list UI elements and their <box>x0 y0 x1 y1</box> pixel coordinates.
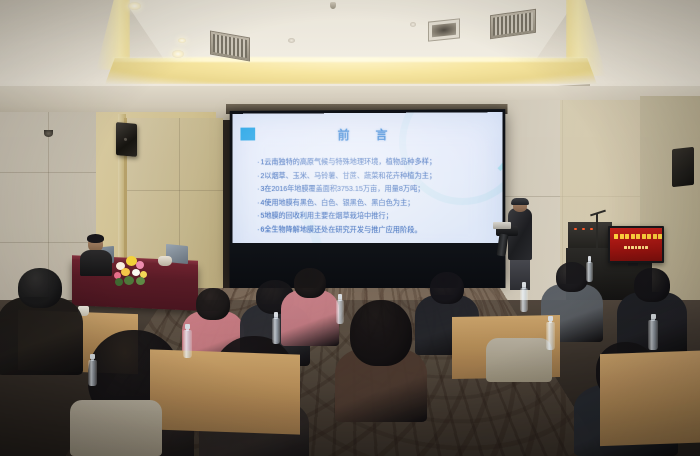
bullet-text: 4使用地膜有黑色、白色、银黑色、黑白色为主； <box>260 198 414 207</box>
monitor-subtext-block <box>642 246 645 249</box>
bottle-cap <box>548 316 553 321</box>
slide-bullet-list: ·1云南独特的高原气候与特殊地理环境，植物品种多样； ·2以烟草、玉米、马铃薯、… <box>257 155 492 237</box>
monitor-subtitle-blocks <box>624 246 648 249</box>
slide-bullet-6: ·6全生物降解地膜还处在研究开发与推广应用阶段。 <box>257 223 492 237</box>
flower-3 <box>136 261 144 269</box>
chair-back-right <box>486 338 552 382</box>
slide-title: 前 言 <box>233 125 503 143</box>
wall-speaker-right <box>672 147 694 187</box>
monitor-text-block <box>658 234 662 239</box>
water-bottle-4 <box>520 288 528 312</box>
sprinkler-head <box>330 2 336 9</box>
bullet-text: 5地膜的回收利用主要在烟草栽培中推行； <box>260 211 392 220</box>
bottle-cap <box>90 354 95 359</box>
flower-4 <box>121 268 130 276</box>
bullet-text: 2以烟草、玉米、马铃薯、甘蔗、蔬菜和花卉种植为主； <box>260 170 436 179</box>
downlight-2 <box>172 50 184 58</box>
water-bottle-3 <box>336 300 344 324</box>
microphone-stand <box>596 214 598 248</box>
slide-bullet-4: ·4使用地膜有黑色、白色、银黑色、黑白色为主； <box>257 196 492 210</box>
monitor-subtext-block <box>628 246 631 249</box>
rack-led <box>590 228 593 230</box>
monitor-subtext-block <box>631 246 634 249</box>
bottle-cap <box>185 324 190 329</box>
head <box>294 268 326 298</box>
camera-lens-hood <box>493 222 511 229</box>
bullet-text: 6全生物降解地膜还处在研究开发与推广应用阶段。 <box>260 225 421 234</box>
door-seam <box>127 190 223 191</box>
av-monitor <box>608 226 664 263</box>
bottle-cap <box>522 282 526 287</box>
presenter-hair <box>87 234 104 243</box>
head <box>18 268 62 308</box>
monitor-screen <box>610 228 662 261</box>
water-bottle-2 <box>272 318 280 344</box>
flower-10 <box>115 278 123 286</box>
conference-room-photo: 前 言 ·1云南独特的高原气候与特殊地理环境，植物品种多样； ·2以烟草、玉米、… <box>0 0 700 456</box>
chair-back-center <box>70 400 162 456</box>
monitor-subtext-block <box>638 246 641 249</box>
monitor-subtext-block <box>624 246 627 249</box>
bullet-text: 3在2016年地膜覆盖面积3753.15万亩，用量8万吨； <box>260 184 424 193</box>
photographer-cap <box>511 198 529 205</box>
wall-speaker-left <box>116 122 137 157</box>
downlight-1 <box>128 2 141 10</box>
slide-bullet-1: ·1云南独特的高原气候与特殊地理环境，植物品种多样； <box>257 155 492 169</box>
downlight-3 <box>178 38 186 43</box>
security-camera-icon <box>44 130 53 137</box>
floral-centerpiece <box>112 252 152 286</box>
cove-light-strip <box>112 57 590 62</box>
monitor-text-block <box>653 234 657 239</box>
bottle-cap <box>588 256 592 261</box>
head <box>634 268 670 302</box>
monitor-subtext-block <box>635 246 638 249</box>
vent-grill <box>493 12 533 36</box>
head <box>196 288 230 320</box>
torso <box>0 297 83 375</box>
flower-5 <box>132 269 140 276</box>
monitor-text-block <box>636 234 640 239</box>
head <box>556 262 588 292</box>
water-bottle-6 <box>586 262 593 282</box>
monitor-text-block <box>642 234 646 239</box>
flower-8 <box>124 276 134 285</box>
flower-9 <box>136 277 145 285</box>
monitor-text-block <box>647 234 651 239</box>
bullet-text: 1云南独特的高原气候与特殊地理环境，植物品种多样； <box>260 157 436 166</box>
water-bottle-5 <box>546 322 555 350</box>
monitor-text-block <box>620 234 624 239</box>
head <box>350 300 412 366</box>
presenter-torso <box>80 250 112 276</box>
air-diffuser-center <box>428 18 460 41</box>
monitor-title-blocks <box>614 234 662 239</box>
water-bottle-7 <box>648 320 658 350</box>
water-bottle-1 <box>183 330 192 358</box>
bottle-cap <box>274 312 278 317</box>
water-bottle-8 <box>88 360 97 386</box>
monitor-subtext-block <box>645 246 648 249</box>
rack-led <box>582 228 585 230</box>
slide-bullet-3: ·3在2016年地膜覆盖面积3753.15万亩，用量8万吨； <box>257 182 492 196</box>
head <box>430 272 464 304</box>
teapot <box>158 256 172 266</box>
audience-table-right <box>600 350 700 446</box>
photographer-legs <box>510 256 530 290</box>
monitor-text-block <box>625 234 629 239</box>
bottle-cap <box>651 314 656 319</box>
monitor-text-block <box>614 234 618 239</box>
smoke-detector-1 <box>288 38 295 43</box>
audience-table-center <box>150 349 300 434</box>
slide-bullet-5: ·5地膜的回收利用主要在烟草栽培中推行； <box>257 209 492 223</box>
slide-bullet-2: ·2以烟草、玉米、马铃薯、甘蔗、蔬菜和花卉种植为主； <box>257 168 492 182</box>
bottle-cap <box>338 294 342 299</box>
vent-grill <box>213 34 247 58</box>
rack-led <box>574 228 577 230</box>
smoke-detector-2 <box>410 22 416 27</box>
monitor-text-block <box>631 234 635 239</box>
